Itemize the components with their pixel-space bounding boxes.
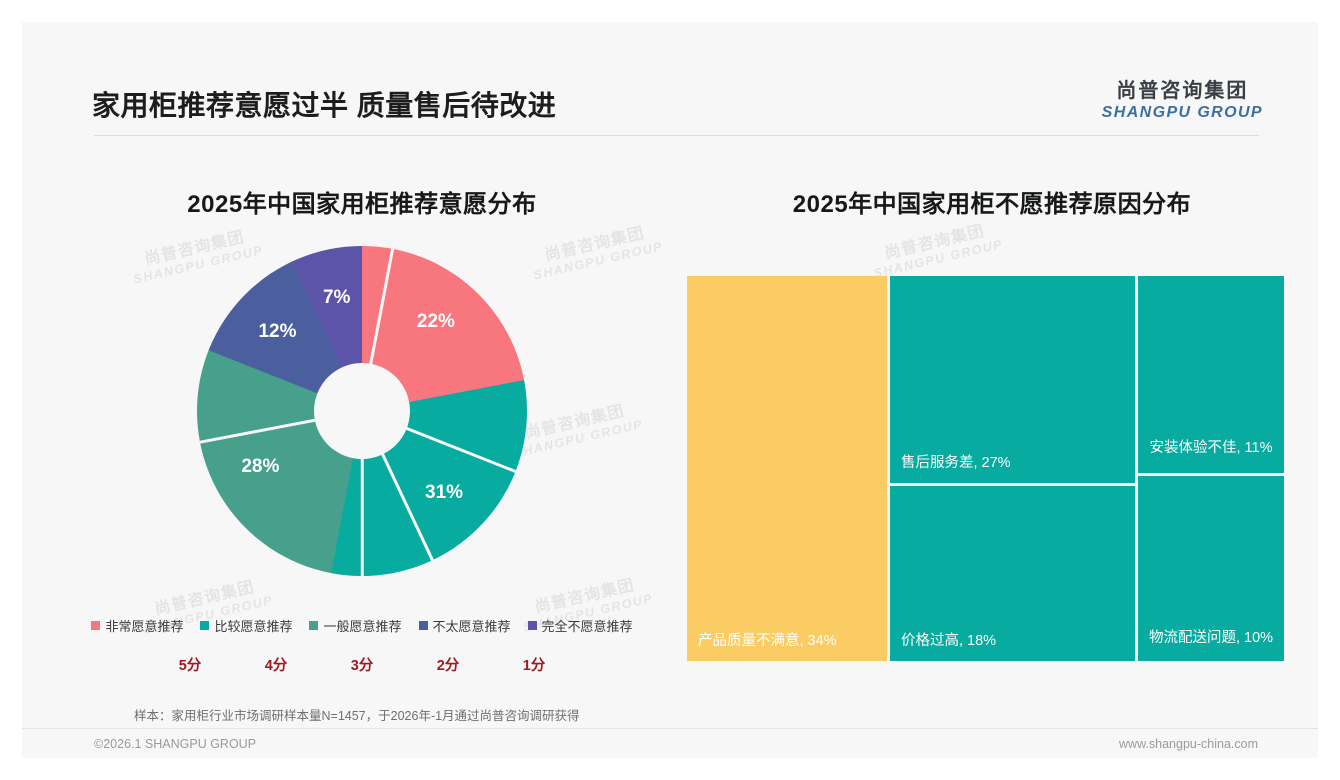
score-label: 1分 (491, 654, 577, 675)
treemap-cell-product-quality[interactable]: 产品质量不满意, 34% (687, 276, 887, 661)
page-title: 家用柜推荐意愿过半 质量售后待改进 (92, 84, 556, 124)
donut-slice-label: 31% (425, 482, 463, 504)
legend-item[interactable]: 非常愿意推荐 (91, 616, 183, 635)
brand-logo: 尚普咨询集团 SHANGPU GROUP (1102, 80, 1263, 122)
donut-center-hole (314, 363, 410, 459)
treemap-cell-label: 价格过高, 18% (901, 632, 996, 652)
donut-legend: 非常愿意推荐比较愿意推荐一般愿意推荐不太愿意推荐完全不愿意推荐 (52, 616, 672, 635)
treemap-cell-price[interactable]: 价格过高, 18% (890, 486, 1135, 661)
sample-note: 样本：家用柜行业市场调研样本量N=1457，于2026年-1月通过尚普咨询调研获… (134, 705, 580, 724)
score-label: 5分 (147, 654, 233, 675)
legend-item-label: 一般愿意推荐 (323, 616, 401, 635)
legend-item[interactable]: 不太愿意推荐 (419, 616, 511, 635)
score-label: 4分 (233, 654, 319, 675)
donut-chart: 22%31%28%12%7% (197, 246, 527, 576)
legend-swatch-icon (200, 621, 209, 630)
treemap-cell-label: 安装体验不佳, 11% (1138, 439, 1284, 459)
logo-text-cn: 尚普咨询集团 (1102, 80, 1263, 103)
score-label: 2分 (405, 654, 491, 675)
treemap-cell-label: 物流配送问题, 10% (1138, 629, 1284, 649)
legend-swatch-icon (419, 621, 428, 630)
website-link[interactable]: www.shangpu-china.com (1119, 737, 1258, 751)
treemap-chart: 产品质量不满意, 34% 售后服务差, 27% 价格过高, 18% 安装体验不佳… (687, 276, 1287, 661)
treemap-cell-logistics[interactable]: 物流配送问题, 10% (1138, 476, 1284, 661)
score-label: 3分 (319, 654, 405, 675)
legend-item[interactable]: 比较愿意推荐 (200, 616, 292, 635)
treemap-column-3: 安装体验不佳, 11% 物流配送问题, 10% (1138, 276, 1284, 661)
treemap-cell-installation[interactable]: 安装体验不佳, 11% (1138, 276, 1284, 473)
legend-item-label: 完全不愿意推荐 (542, 616, 633, 635)
treemap-chart-panel: 2025年中国家用柜不愿推荐原因分布 产品质量不满意, 34% 售后服务差, 2… (682, 184, 1302, 704)
donut-chart-panel: 2025年中国家用柜推荐意愿分布 22%31%28%12%7% 非常愿意推荐比较… (52, 184, 672, 704)
donut-chart-title: 2025年中国家用柜推荐意愿分布 (52, 184, 672, 219)
slide-header: 家用柜推荐意愿过半 质量售后待改进 尚普咨询集团 SHANGPU GROUP (22, 22, 1318, 122)
legend-swatch-icon (309, 621, 318, 630)
legend-item-label: 不太愿意推荐 (433, 616, 511, 635)
legend-item-label: 比较愿意推荐 (214, 616, 292, 635)
legend-swatch-icon (91, 621, 100, 630)
logo-text-en: SHANGPU GROUP (1102, 103, 1263, 122)
donut-slice-label: 22% (417, 311, 455, 333)
treemap-column-1: 产品质量不满意, 34% (687, 276, 887, 661)
header-divider (94, 135, 1259, 136)
donut-slice-label: 28% (241, 456, 279, 478)
score-label-row: 5分4分3分2分1分 (52, 654, 672, 675)
legend-item-label: 非常愿意推荐 (105, 616, 183, 635)
treemap-cell-label: 售后服务差, 27% (901, 454, 1011, 474)
treemap-column-2: 售后服务差, 27% 价格过高, 18% (890, 276, 1135, 661)
donut-slice-label: 7% (323, 287, 350, 309)
footer-divider (22, 728, 1318, 729)
legend-item[interactable]: 一般愿意推荐 (309, 616, 401, 635)
treemap-cell-label: 产品质量不满意, 34% (698, 632, 837, 652)
legend-item[interactable]: 完全不愿意推荐 (528, 616, 633, 635)
copyright-text: ©2026.1 SHANGPU GROUP (94, 737, 256, 751)
donut-slice-label: 12% (258, 321, 296, 343)
legend-swatch-icon (528, 621, 537, 630)
treemap-chart-title: 2025年中国家用柜不愿推荐原因分布 (682, 184, 1302, 219)
treemap-cell-after-sales[interactable]: 售后服务差, 27% (890, 276, 1135, 483)
slide-canvas: 尚普咨询集团 SHANGPU GROUP 尚普咨询集团 SHANGPU GROU… (22, 22, 1318, 758)
